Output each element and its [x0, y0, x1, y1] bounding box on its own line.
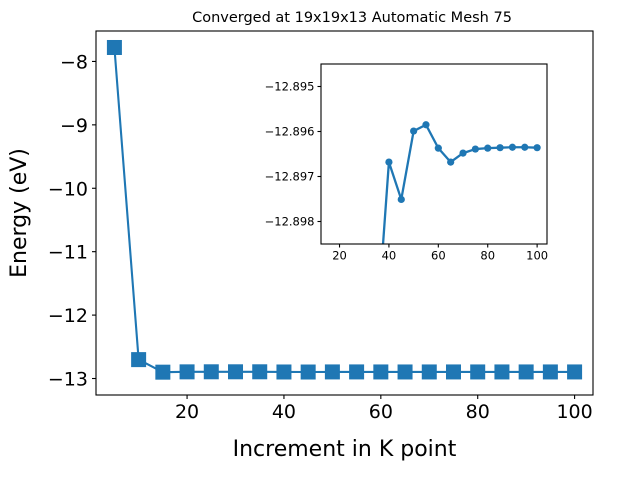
- chart-title: Converged at 19x19x13 Automatic Mesh 75: [192, 10, 512, 26]
- data-point-marker: [459, 150, 466, 157]
- data-point-marker: [410, 127, 417, 134]
- data-point-marker: [301, 365, 316, 380]
- data-point-marker: [180, 364, 195, 379]
- y-axis-label: Energy (eV): [7, 148, 32, 278]
- data-point-marker: [435, 145, 442, 152]
- inset-plot-background: [321, 64, 547, 244]
- data-point-marker: [470, 364, 485, 379]
- data-point-marker: [385, 159, 392, 166]
- y-tick-label: −9: [60, 115, 88, 137]
- data-point-marker: [276, 364, 291, 379]
- data-point-marker: [422, 364, 437, 379]
- y-tick-label: −12.896: [265, 125, 315, 139]
- figure-canvas: Converged at 19x19x13 Automatic Mesh 75 …: [0, 0, 640, 480]
- y-tick-label: −10: [48, 178, 88, 200]
- data-point-marker: [325, 364, 340, 379]
- data-point-marker: [494, 364, 509, 379]
- y-tick-label: −12: [48, 305, 88, 327]
- data-point-marker: [422, 121, 429, 128]
- x-tick-label: 20: [332, 249, 347, 263]
- y-tick-label: −12.895: [265, 80, 315, 94]
- data-point-marker: [496, 144, 503, 151]
- data-point-marker: [252, 364, 267, 379]
- x-tick-label: 80: [480, 249, 495, 263]
- x-tick-label: 40: [382, 249, 397, 263]
- y-tick-label: −12.897: [265, 170, 315, 184]
- data-point-marker: [472, 145, 479, 152]
- data-point-marker: [107, 40, 122, 55]
- y-tick-label: −11: [48, 242, 88, 264]
- y-tick-label: −8: [60, 51, 88, 73]
- data-point-marker: [398, 196, 405, 203]
- data-point-marker: [484, 145, 491, 152]
- x-tick-label: 60: [431, 249, 446, 263]
- data-point-marker: [373, 364, 388, 379]
- data-point-marker: [543, 364, 558, 379]
- data-point-marker: [567, 364, 582, 379]
- data-point-marker: [131, 352, 146, 367]
- data-point-marker: [349, 364, 364, 379]
- data-point-marker: [521, 144, 528, 151]
- x-axis-label: Increment in K point: [233, 437, 457, 462]
- data-point-marker: [204, 364, 219, 379]
- energy-convergence-chart: Converged at 19x19x13 Automatic Mesh 75 …: [0, 0, 640, 480]
- data-point-marker: [447, 159, 454, 166]
- x-tick-label: 20: [175, 401, 199, 423]
- x-tick-label: 100: [526, 249, 548, 263]
- data-point-marker: [398, 364, 413, 379]
- data-point-marker: [509, 144, 516, 151]
- x-tick-label: 40: [272, 401, 296, 423]
- y-tick-label: −13: [48, 369, 88, 391]
- data-point-marker: [446, 364, 461, 379]
- x-tick-label: 60: [369, 401, 393, 423]
- data-point-marker: [155, 365, 170, 380]
- data-point-marker: [534, 144, 541, 151]
- data-point-marker: [519, 364, 534, 379]
- x-tick-label: 100: [556, 401, 592, 423]
- y-tick-label: −12.898: [265, 215, 315, 229]
- x-tick-label: 80: [466, 401, 490, 423]
- data-point-marker: [228, 364, 243, 379]
